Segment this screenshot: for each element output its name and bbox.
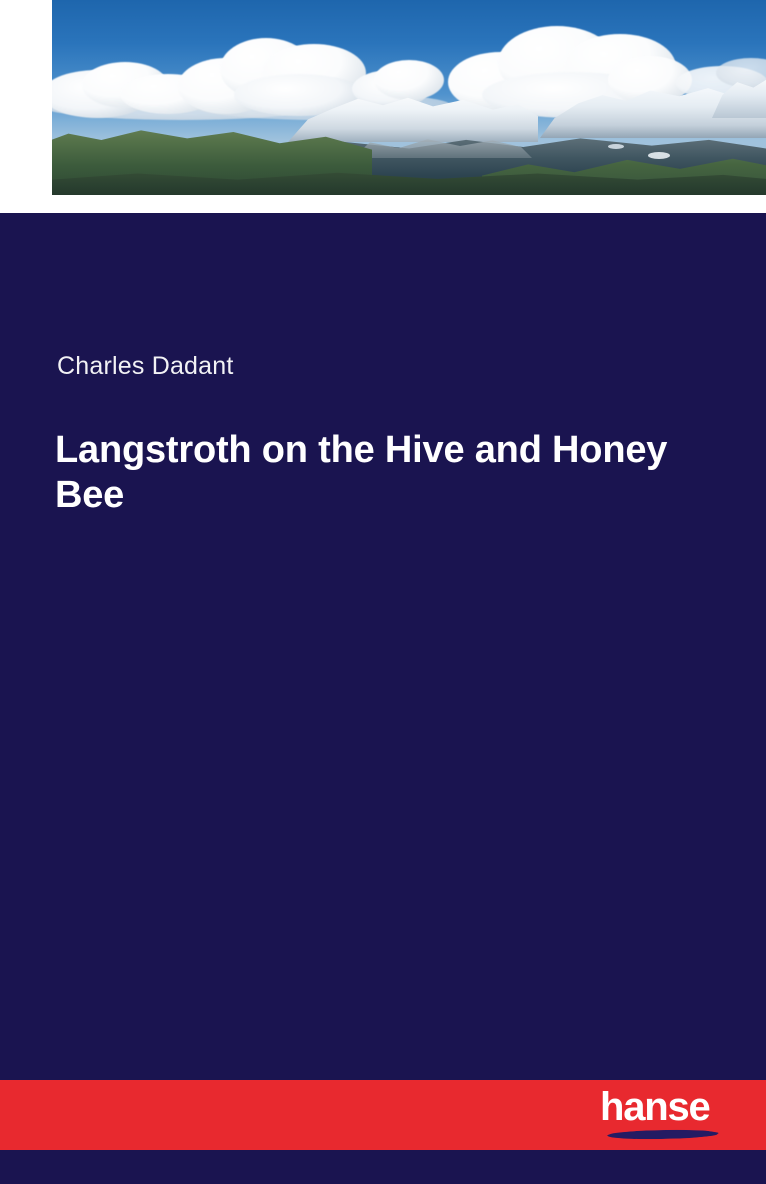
book-cover: Charles Dadant Langstroth on the Hive an… — [0, 0, 766, 1184]
hanse-logo-wordmark: hanse — [600, 1085, 710, 1129]
alpine-mountain-panorama-image — [52, 0, 766, 195]
cloud-puff — [374, 60, 444, 100]
hanse-logo-swoosh-icon — [607, 1129, 719, 1140]
snow-patch — [608, 144, 624, 149]
cover-photo-band — [0, 0, 766, 213]
book-title: Langstroth on the Hive and Honey Bee — [55, 428, 735, 518]
author-name: Charles Dadant — [57, 352, 234, 381]
hanse-publisher-logo: hanse — [600, 1085, 730, 1145]
snow-patch — [648, 152, 670, 159]
